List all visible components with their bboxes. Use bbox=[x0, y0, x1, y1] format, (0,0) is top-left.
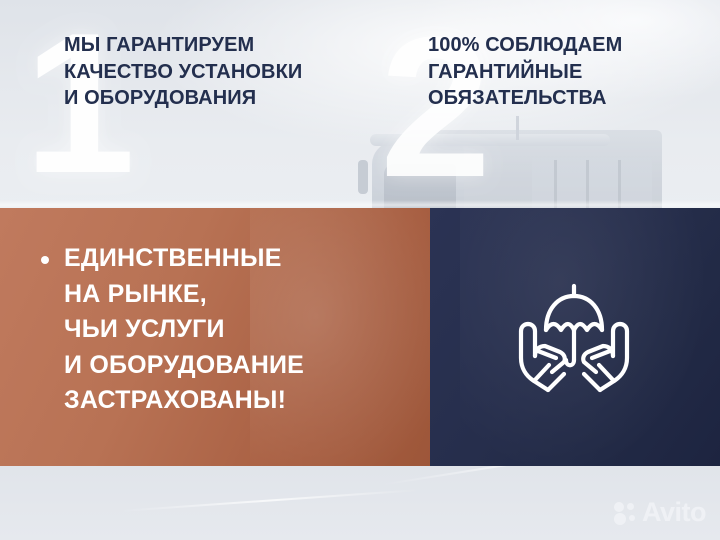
highlight-text: ЕДИНСТВЕННЫЕ НА РЫНКЕ, ЧЬИ УСЛУГИ И ОБОР… bbox=[64, 241, 414, 419]
umbrella-in-hands-icon bbox=[508, 272, 640, 396]
avito-dots-icon bbox=[614, 502, 638, 524]
promo-poster: 1 2 МЫ ГАРАНТИРУЕМ КАЧЕСТВО УСТАНОВКИ И … bbox=[0, 0, 720, 540]
benefit-headline-2: 100% СОБЛЮДАЕМ ГАРАНТИЙНЫЕ ОБЯЗАТЕЛЬСТВА bbox=[428, 32, 708, 112]
avito-wordmark: Avito bbox=[642, 499, 706, 526]
bus-mirror bbox=[358, 160, 368, 194]
bus-antenna bbox=[516, 116, 519, 140]
avito-watermark: Avito bbox=[614, 499, 706, 526]
bullet-point-icon bbox=[41, 256, 49, 264]
benefit-headline-1: МЫ ГАРАНТИРУЕМ КАЧЕСТВО УСТАНОВКИ И ОБОР… bbox=[64, 32, 364, 112]
